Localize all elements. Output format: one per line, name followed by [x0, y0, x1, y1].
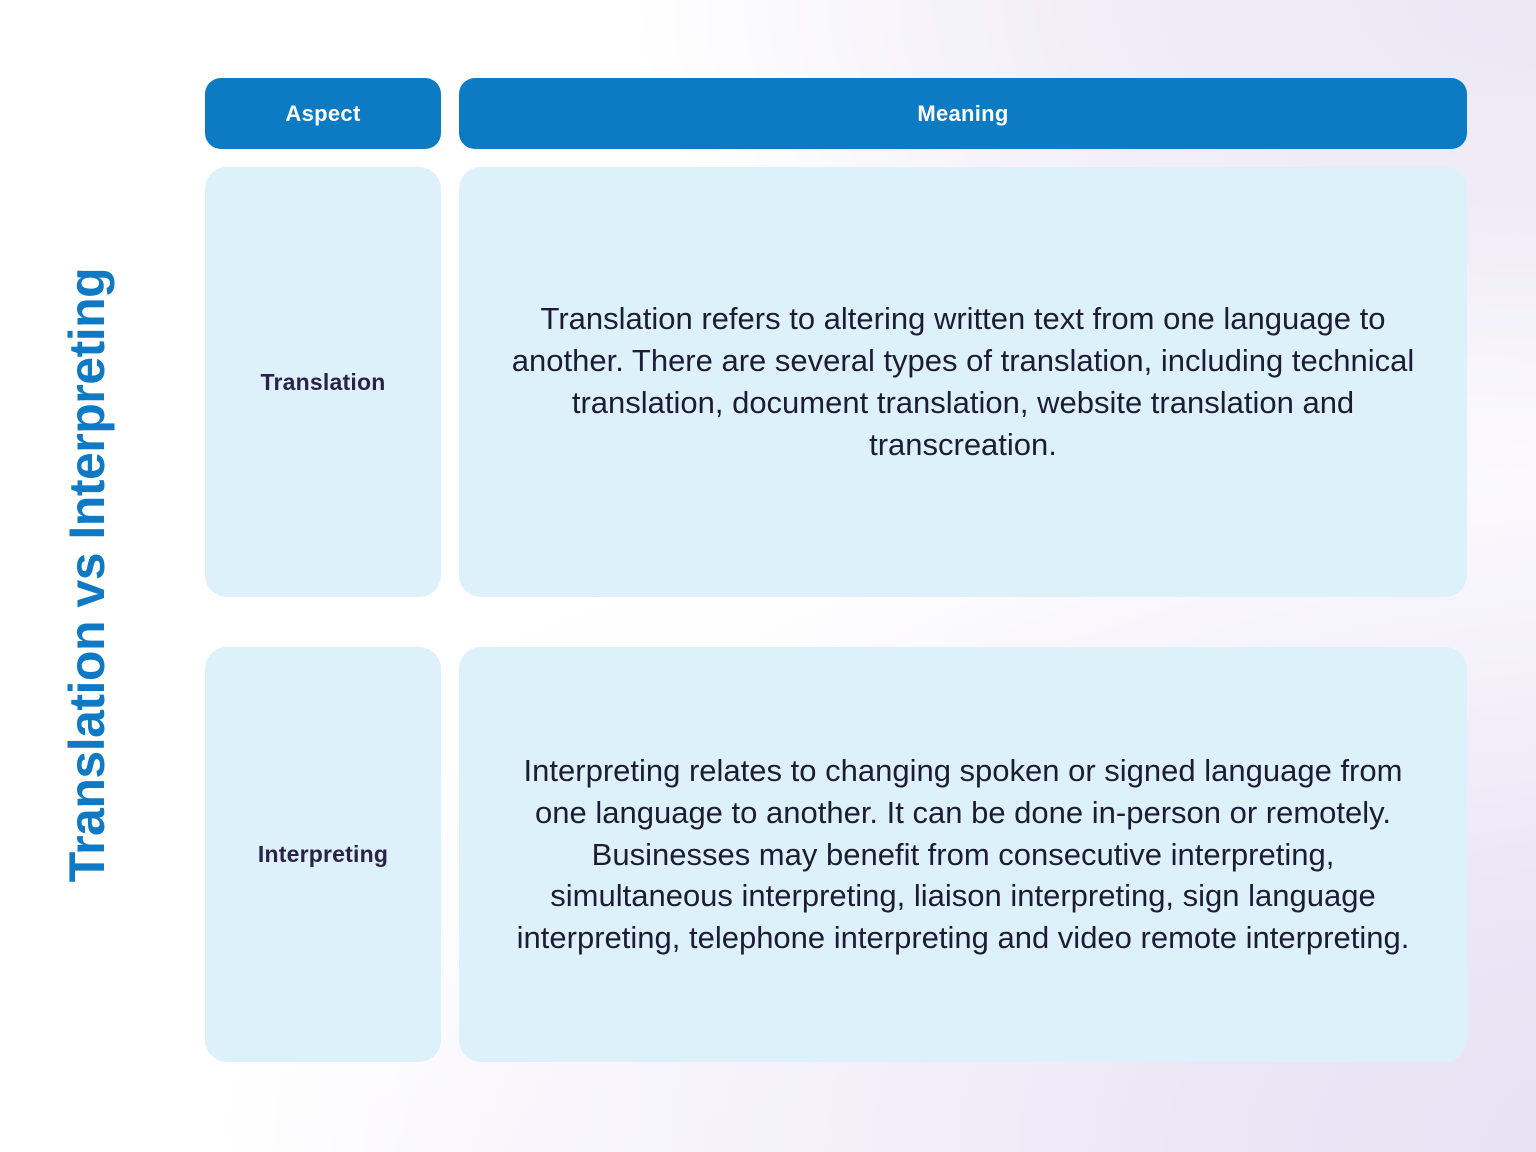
- table-header-row: Aspect Meaning: [205, 78, 1467, 149]
- meaning-cell-translation: Translation refers to altering written t…: [459, 167, 1467, 597]
- slide-title: Translation vs Interpreting: [62, 268, 112, 882]
- meaning-text: Interpreting relates to changing spoken …: [485, 750, 1441, 959]
- comparison-table: Aspect Meaning Translation Translation r…: [205, 78, 1467, 1062]
- cell-aspect-wrap: Interpreting: [205, 647, 441, 1062]
- table-row: Interpreting Interpreting relates to cha…: [205, 647, 1467, 1062]
- meaning-cell-interpreting: Interpreting relates to changing spoken …: [459, 647, 1467, 1062]
- meaning-text: Translation refers to altering written t…: [485, 298, 1441, 465]
- cell-aspect-wrap: Translation: [205, 167, 441, 597]
- table-row: Translation Translation refers to alteri…: [205, 167, 1467, 597]
- vertical-title-container: Translation vs Interpreting: [44, 180, 130, 970]
- cell-meaning-wrap: Interpreting relates to changing spoken …: [459, 647, 1467, 1062]
- cell-meaning-wrap: Translation refers to altering written t…: [459, 167, 1467, 597]
- slide-canvas: Translation vs Interpreting Aspect Meani…: [0, 0, 1536, 1152]
- aspect-cell-translation: Translation: [205, 167, 441, 597]
- header-cell-aspect-wrap: Aspect: [205, 78, 441, 149]
- column-header-meaning: Meaning: [459, 78, 1467, 149]
- aspect-label: Translation: [261, 369, 386, 396]
- header-cell-meaning-wrap: Meaning: [459, 78, 1467, 149]
- aspect-cell-interpreting: Interpreting: [205, 647, 441, 1062]
- column-header-aspect: Aspect: [205, 78, 441, 149]
- aspect-label: Interpreting: [258, 841, 388, 868]
